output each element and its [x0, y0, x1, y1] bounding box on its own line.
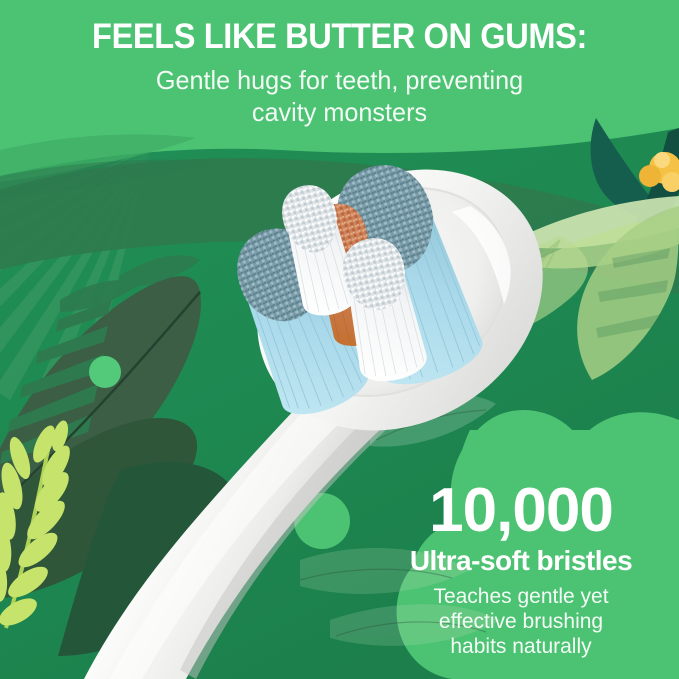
bristle-tufts-group	[0, 0, 679, 679]
promo-image: FEELS LIKE BUTTER ON GUMS: Gentle hugs f…	[0, 0, 679, 679]
